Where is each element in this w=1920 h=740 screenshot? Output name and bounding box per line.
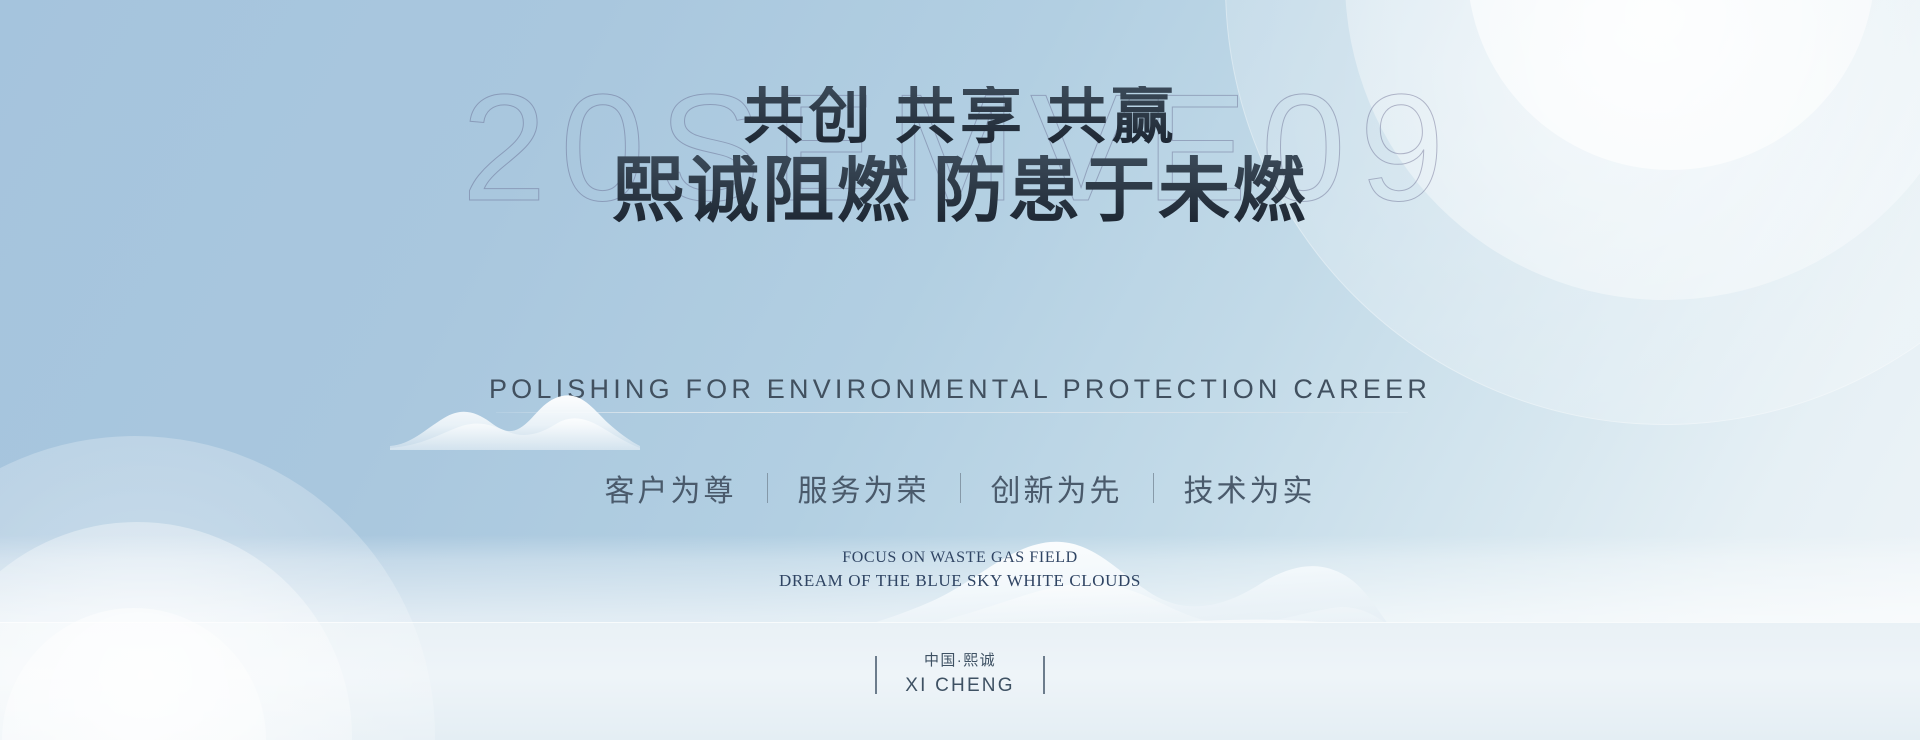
headline-line-2: 熙诚阻燃 防患于未燃 (0, 155, 1920, 228)
headline-line-1: 共创 共享 共赢 (0, 86, 1920, 149)
brand-divider-right (1043, 656, 1045, 694)
banner-stage: 20SEMVE09 共创 共享 共赢 熙诚阻燃 防患于未燃 POLISHING … (0, 0, 1920, 740)
value-separator-1 (767, 473, 768, 503)
tagline-line-2: DREAM OF THE BLUE SKY WHITE CLOUDS (0, 569, 1920, 594)
value-separator-3 (1153, 473, 1154, 503)
subtitle-english: POLISHING FOR ENVIRONMENTAL PROTECTION C… (0, 374, 1920, 405)
value-item-3: 创新为先 (961, 466, 1153, 510)
tagline-block: FOCUS ON WASTE GAS FIELD DREAM OF THE BL… (0, 546, 1920, 594)
tagline-line-1: FOCUS ON WASTE GAS FIELD (0, 546, 1920, 569)
brand-divider-left (875, 656, 877, 694)
values-row: 客户为尊 服务为荣 创新为先 技术为实 (0, 466, 1920, 510)
brand-name-cn: 中国·熙诚 (905, 650, 1014, 673)
brand-footer: 中国·熙诚 XI CHENG (0, 650, 1920, 700)
value-item-4: 技术为实 (1154, 466, 1346, 510)
value-separator-2 (960, 473, 961, 503)
subtitle-underline (496, 412, 1408, 413)
brand-lockup: 中国·熙诚 XI CHENG (905, 650, 1014, 700)
value-item-1: 客户为尊 (575, 466, 767, 510)
value-item-2: 服务为荣 (768, 466, 960, 510)
headline-block: 共创 共享 共赢 熙诚阻燃 防患于未燃 (0, 86, 1920, 229)
brand-name-en: XI CHENG (905, 672, 1014, 700)
